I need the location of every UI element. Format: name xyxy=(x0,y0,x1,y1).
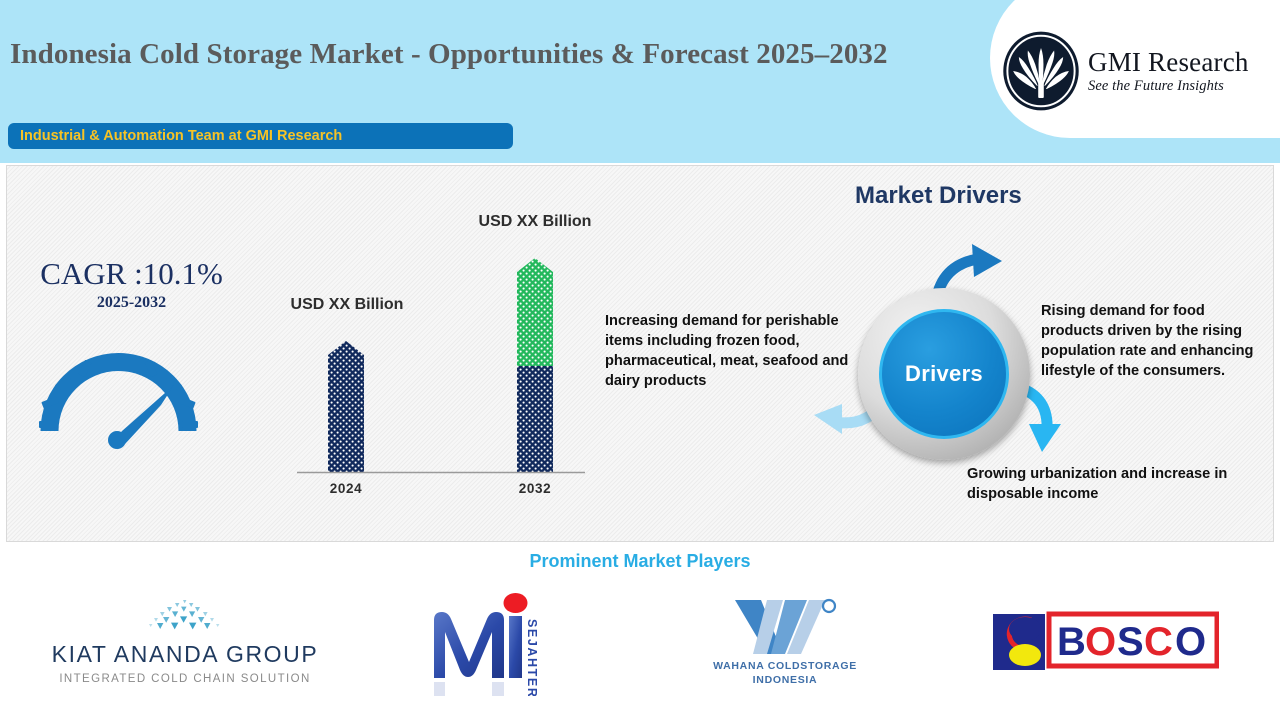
wahana-name: WAHANA COLDSTORAGE INDONESIA xyxy=(713,659,857,687)
kiat-ananda-name: KIAT ANANDA GROUP xyxy=(52,641,319,668)
speedometer-gauge-icon xyxy=(26,345,211,450)
prominent-players-title: Prominent Market Players xyxy=(0,551,1280,572)
mi-sejahtera-icon: SEJAHTERA xyxy=(420,586,560,696)
svg-text:B: B xyxy=(1057,620,1086,664)
drivers-inner-circle: Drivers xyxy=(882,312,1006,436)
market-size-bar-chart: USD XX Billion USD XX Billion 2024 2032 xyxy=(285,200,590,500)
team-badge: Industrial & Automation Team at GMI Rese… xyxy=(8,123,513,149)
drivers-center-label: Drivers xyxy=(905,361,983,387)
kiat-ananda-tagline: INTEGRATED COLD CHAIN SOLUTION xyxy=(59,673,310,685)
bar-2032-base xyxy=(517,366,553,472)
bar-chart-svg xyxy=(285,200,590,500)
bar-2024 xyxy=(328,341,364,472)
bar-2032-axis-label: 2032 xyxy=(495,481,575,496)
market-drivers-title: Market Drivers xyxy=(855,182,1022,210)
svg-text:O: O xyxy=(1175,620,1206,664)
gmi-logo-name: GMI Research xyxy=(1088,49,1249,76)
svg-text:C: C xyxy=(1144,620,1173,664)
cagr-period: 2025-2032 xyxy=(24,294,239,312)
bosco-icon: B O S C O xyxy=(991,608,1219,674)
player-logo-bosco: B O S C O xyxy=(985,578,1225,703)
bar-2032-value-label: USD XX Billion xyxy=(475,210,595,233)
driver-text-food-demand: Rising demand for food products driven b… xyxy=(1041,302,1269,381)
svg-text:SEJAHTERA: SEJAHTERA xyxy=(525,619,539,696)
gmi-palm-emblem-icon xyxy=(1000,30,1082,112)
bar-2032-growth xyxy=(517,258,553,366)
cagr-value: CAGR :10.1% xyxy=(24,256,239,292)
player-logo-kiat-ananda: KIAT ANANDA GROUP INTEGRATED COLD CHAIN … xyxy=(20,578,350,703)
gmi-logo-text: GMI Research See the Future Insights xyxy=(1088,49,1249,94)
driver-text-urbanization: Growing urbanization and increase in dis… xyxy=(967,465,1252,505)
infographic-root: Indonesia Cold Storage Market - Opportun… xyxy=(0,0,1280,720)
player-logo-wahana-coldstorage: WAHANA COLDSTORAGE INDONESIA xyxy=(690,578,880,703)
bar-2024-axis-label: 2024 xyxy=(306,481,386,496)
drivers-circle: Drivers xyxy=(858,288,1030,460)
wahana-name-line1: WAHANA COLDSTORAGE xyxy=(713,660,857,672)
driver-text-perishable: Increasing demand for perishable items i… xyxy=(605,312,873,391)
svg-text:S: S xyxy=(1117,620,1144,664)
gmi-logo-tagline: See the Future Insights xyxy=(1088,79,1249,94)
player-logo-mi-sejahtera: SEJAHTERA xyxy=(400,578,580,703)
players-logo-row: KIAT ANANDA GROUP INTEGRATED COLD CHAIN … xyxy=(0,578,1280,703)
page-title: Indonesia Cold Storage Market - Opportun… xyxy=(10,38,940,71)
gmi-research-logo: GMI Research See the Future Insights xyxy=(1000,30,1270,112)
wahana-w-icon xyxy=(723,594,848,656)
wahana-name-line2: INDONESIA xyxy=(753,674,818,686)
bar-2024-value-label: USD XX Billion xyxy=(287,293,407,316)
dome-triangles-icon xyxy=(142,597,228,637)
svg-text:O: O xyxy=(1085,620,1116,664)
